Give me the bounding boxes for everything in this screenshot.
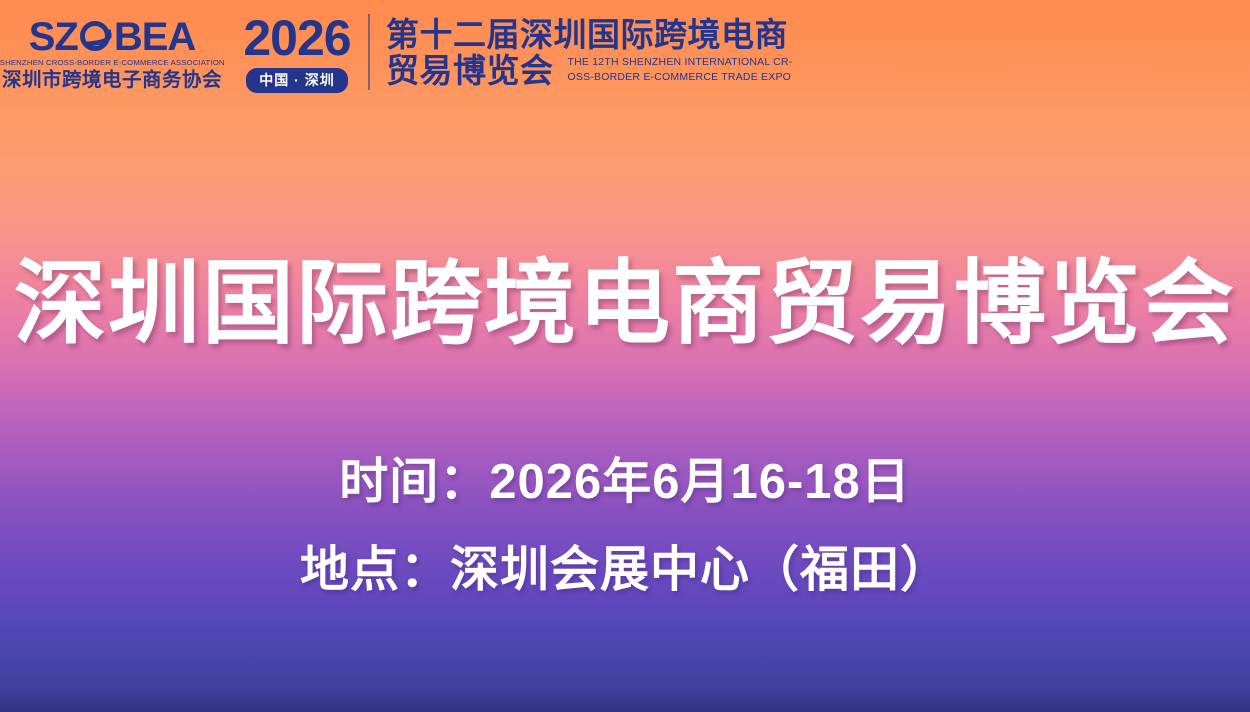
wordmark-part1: SZ: [29, 17, 78, 57]
year-block: 2026 中国 · 深圳: [234, 11, 360, 93]
expo-title-row2: 贸易博览会 THE 12TH SHENZHEN INTERNATIONAL CR…: [386, 54, 792, 88]
event-venue-line: 地点：深圳会展中心（福田）: [0, 546, 1250, 595]
association-english-name: SHENZHEN CROSS-BORDER E-COMMERCE ASSOCIA…: [0, 59, 224, 67]
expo-title-line1: 第十二届深圳国际跨境电商: [386, 18, 792, 52]
expo-title-block: 第十二届深圳国际跨境电商 贸易博览会 THE 12TH SHENZHEN INT…: [386, 16, 792, 87]
expo-english-line2: OSS-BORDER E-COMMERCE TRADE EXPO: [568, 70, 793, 85]
wordmark-part2: BEA: [114, 17, 195, 57]
association-wordmark: SZ BEA: [29, 17, 196, 57]
expo-title-line2: 贸易博览会: [386, 54, 554, 88]
year-number: 2026: [243, 13, 350, 63]
bottom-gradient-band: [0, 686, 1250, 712]
association-logo: SZ BEA SHENZHEN CROSS-BORDER E-COMMERCE …: [14, 13, 210, 90]
page-title: 深圳国际跨境电商贸易博览会: [0, 258, 1250, 350]
expo-english-line1: THE 12TH SHENZHEN INTERNATIONAL CR-: [568, 55, 793, 70]
event-info: 时间：2026年6月16-18日 地点：深圳会展中心（福田）: [0, 458, 1250, 595]
event-date-line: 时间：2026年6月16-18日: [0, 458, 1250, 507]
association-chinese-name: 深圳市跨境电子商务协会: [2, 71, 222, 91]
at-globe-icon: [79, 20, 113, 54]
header-divider: [368, 14, 370, 90]
expo-english-title: THE 12TH SHENZHEN INTERNATIONAL CR- OSS-…: [568, 55, 793, 88]
poster-banner: SZ BEA SHENZHEN CROSS-BORDER E-COMMERCE …: [0, 0, 1250, 712]
header-bar: SZ BEA SHENZHEN CROSS-BORDER E-COMMERCE …: [0, 0, 1250, 104]
location-badge: 中国 · 深圳: [246, 68, 347, 93]
